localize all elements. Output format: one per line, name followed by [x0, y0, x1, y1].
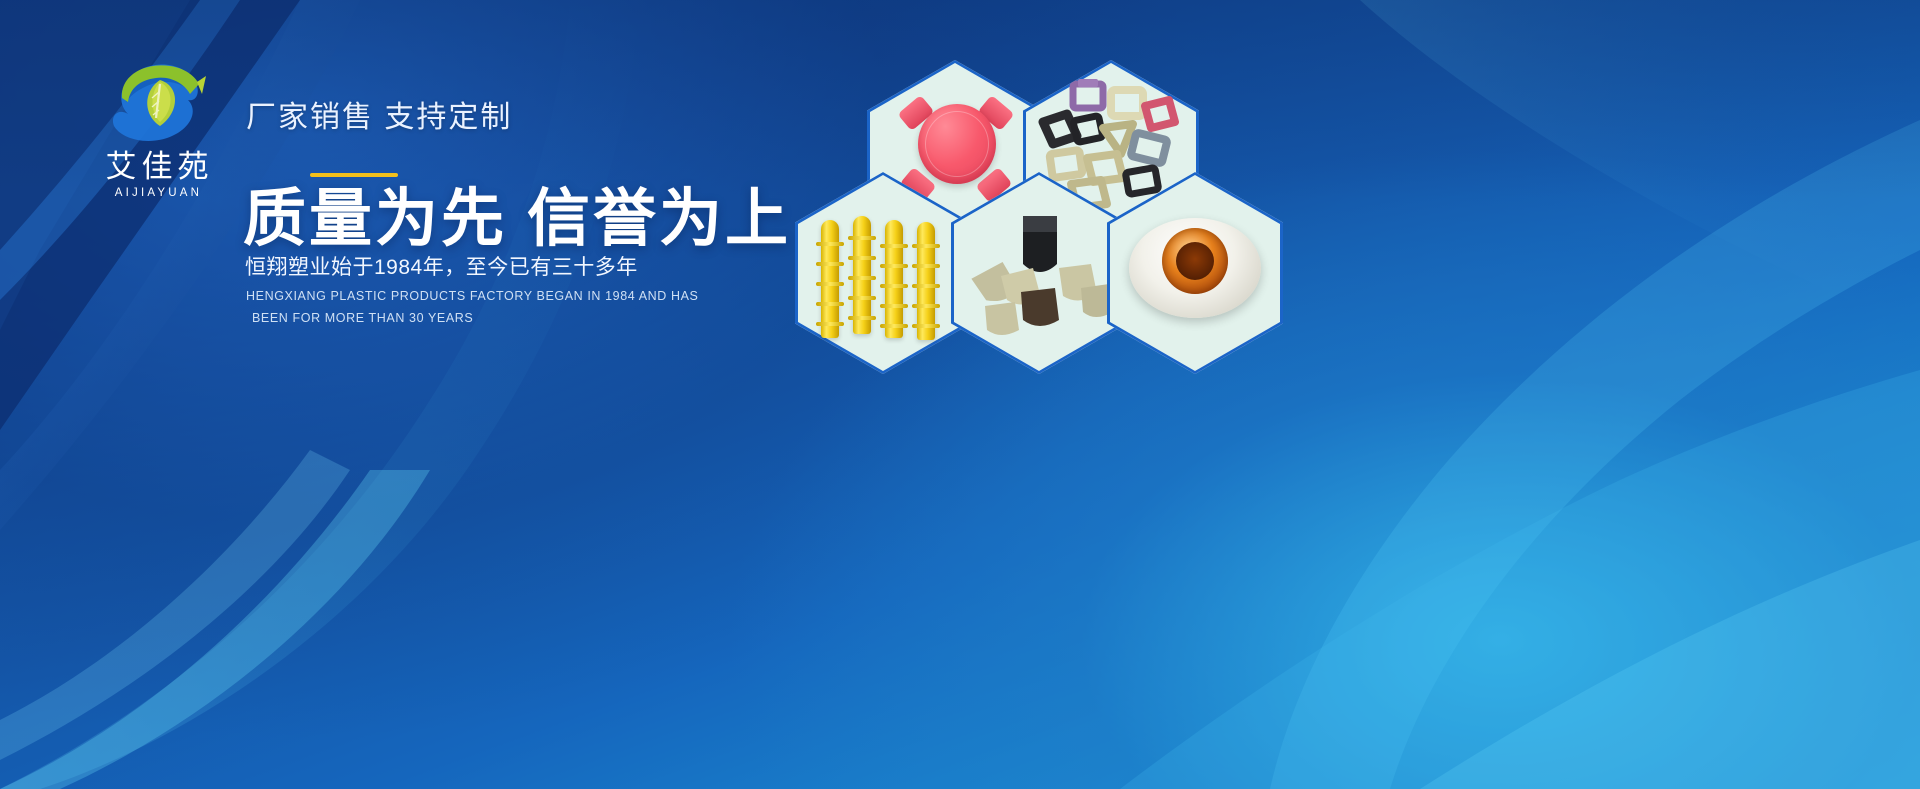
brand-name-cn: 艾佳苑: [82, 150, 232, 184]
brand-name-pinyin: AIJIAYUAN: [82, 187, 232, 199]
white-lamp-holder-image: [1129, 200, 1261, 332]
headline-part-2: 信誉为上: [527, 184, 791, 254]
page-title: 质量为先信誉为上: [243, 168, 791, 259]
eyebrow-text: 厂家销售 支持定制: [246, 92, 512, 136]
banner-content: 艾佳苑 AIJIAYUAN 厂家销售 支持定制 质量为先信誉为上 恒翔塑业始于1…: [0, 0, 830, 789]
product-hexagon-cluster: [795, 38, 1325, 388]
leaf-swoosh-logo-icon: [98, 56, 216, 148]
pink-junction-box-image: [901, 90, 1011, 200]
subtitle-en-line2: BEEN FOR MORE THAN 30 YEARS: [252, 311, 473, 325]
brand-logo[interactable]: 艾佳苑 AIJIAYUAN: [82, 56, 232, 199]
subtitle-en-line1: HENGXIANG PLASTIC PRODUCTS FACTORY BEGAN…: [246, 289, 698, 303]
yellow-wall-anchors-image: [817, 216, 949, 336]
promo-banner: 艾佳苑 AIJIAYUAN 厂家销售 支持定制 质量为先信誉为上 恒翔塑业始于1…: [0, 0, 1920, 789]
plastic-clips-image: [967, 202, 1113, 342]
subtitle-cn: 恒翔塑业始于1984年，至今已有三十多年: [245, 251, 638, 281]
headline-part-1: 质量为先: [243, 184, 507, 254]
